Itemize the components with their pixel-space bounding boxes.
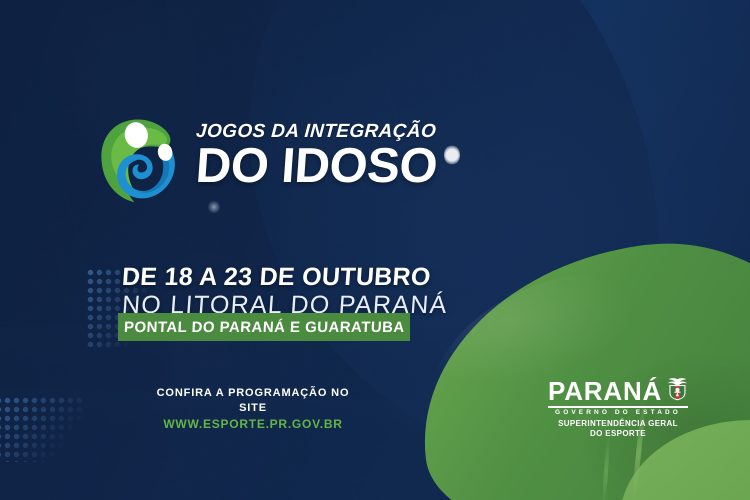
parana-coat-of-arms-icon xyxy=(667,374,688,404)
parana-wordmark: PARANÁ xyxy=(548,380,662,404)
department-label-line2: DO ESPORTE xyxy=(548,429,688,439)
event-title-line2: DO IDOSO xyxy=(194,144,438,189)
parana-logo-row: PARANÁ xyxy=(548,374,688,404)
event-cities-badge: PONTAL DO PARANÁ E GUARATUBA xyxy=(118,313,410,341)
event-title-block: JOGOS DA INTEGRAÇÃO DO IDOSO xyxy=(196,122,437,189)
parana-government-label: GOVERNO DO ESTADO xyxy=(548,409,688,417)
background-highlight-dot xyxy=(444,145,460,165)
background-highlight-dot-secondary xyxy=(208,200,220,214)
event-date-block: DE 18 A 23 DE OUTUBRO NO LITORAL DO PARA… xyxy=(122,264,448,319)
halftone-pattern-bottom-left xyxy=(0,396,86,462)
call-to-action-block: CONFIRA A PROGRAMAÇÃO NO SITE WWW.ESPORT… xyxy=(148,386,358,432)
event-dates: DE 18 A 23 DE OUTUBRO xyxy=(121,264,448,290)
department-label-line1: SUPERINTENDÊNCIA GERAL xyxy=(548,419,688,429)
cta-text: CONFIRA A PROGRAMAÇÃO NO SITE xyxy=(148,386,358,416)
event-promo-banner: JOGOS DA INTEGRAÇÃO DO IDOSO DE 18 A 23 … xyxy=(0,0,750,500)
cta-website-link[interactable]: WWW.ESPORTE.PR.GOV.BR xyxy=(148,416,358,432)
parana-logo-divider xyxy=(548,406,688,408)
parana-government-logo: PARANÁ GOVERNO DO ESTADO SUPERINTENDÊNCI… xyxy=(548,374,688,438)
two-figures-emblem-icon xyxy=(96,112,192,208)
event-cities-label: PONTAL DO PARANÁ E GUARATUBA xyxy=(123,319,405,336)
